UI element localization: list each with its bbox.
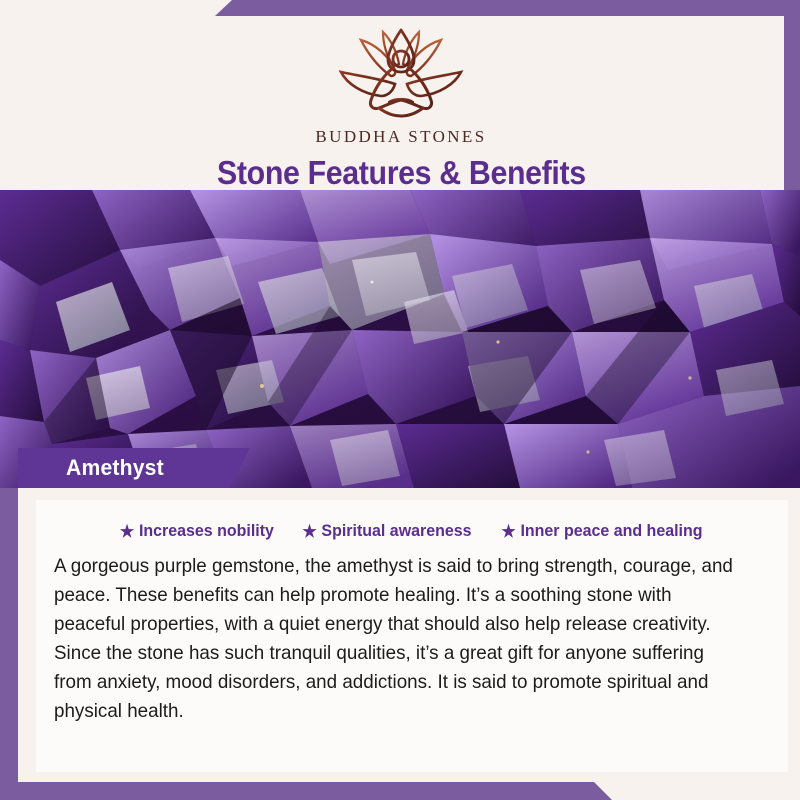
lotus-meditation-figure-icon	[325, 26, 477, 123]
stone-name-banner: Amethyst	[18, 448, 250, 488]
benefit-label: Spiritual awareness	[321, 521, 471, 541]
page-title: Stone Features & Benefits	[217, 154, 586, 192]
brand-logo: BUDDHA STONES	[315, 26, 486, 147]
benefit-label: Increases nobility	[139, 521, 274, 541]
stone-name-label: Amethyst	[66, 455, 164, 481]
decor-bar-left	[0, 487, 18, 800]
stone-benefits-infographic: BUDDHA STONES Stone Features & Benefits	[0, 0, 800, 800]
content-inner: ★ Increases nobility ★ Spiritual awarene…	[36, 500, 788, 772]
star-icon: ★	[302, 523, 316, 540]
header: BUDDHA STONES Stone Features & Benefits	[18, 16, 784, 190]
decor-bar-bottom-left	[0, 782, 612, 800]
stone-description: A gorgeous purple gemstone, the amethyst…	[54, 552, 745, 726]
benefit-item-2: ★ Spiritual awareness	[302, 521, 471, 541]
benefit-label: Inner peace and healing	[520, 521, 702, 541]
star-icon: ★	[120, 523, 134, 540]
amethyst-crystal-cluster-photo	[0, 190, 800, 488]
decor-bar-top-right	[215, 0, 800, 16]
benefit-item-1: ★ Increases nobility	[120, 521, 274, 541]
benefit-item-3: ★ Inner peace and healing	[501, 521, 702, 541]
star-icon: ★	[501, 523, 515, 540]
content-panel: ★ Increases nobility ★ Spiritual awarene…	[18, 488, 800, 782]
benefits-list: ★ Increases nobility ★ Spiritual awarene…	[36, 500, 788, 541]
brand-name: BUDDHA STONES	[315, 127, 486, 147]
